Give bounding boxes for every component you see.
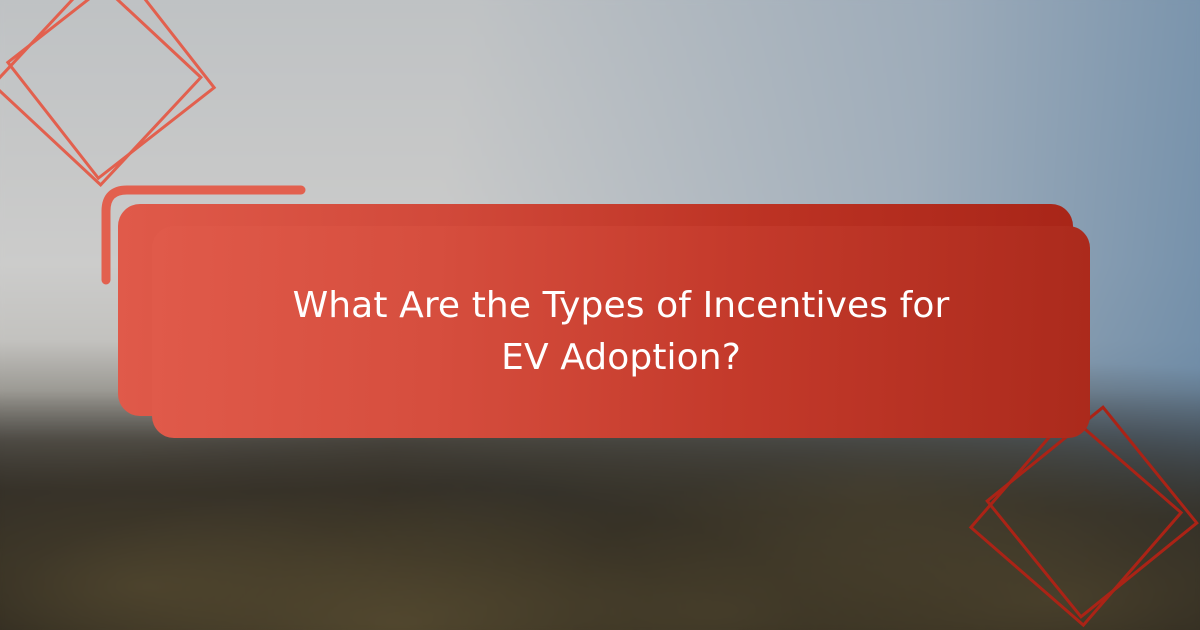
social-share-card: What Are the Types of Incentives for EV …: [0, 0, 1200, 630]
page-title: What Are the Types of Incentives for EV …: [271, 280, 971, 384]
title-card: What Are the Types of Incentives for EV …: [118, 204, 1090, 438]
rotated-square-icon: [6, 0, 217, 180]
title-card-front-panel: What Are the Types of Incentives for EV …: [152, 226, 1090, 438]
decoration-squares-bottom-right: [974, 422, 1200, 630]
